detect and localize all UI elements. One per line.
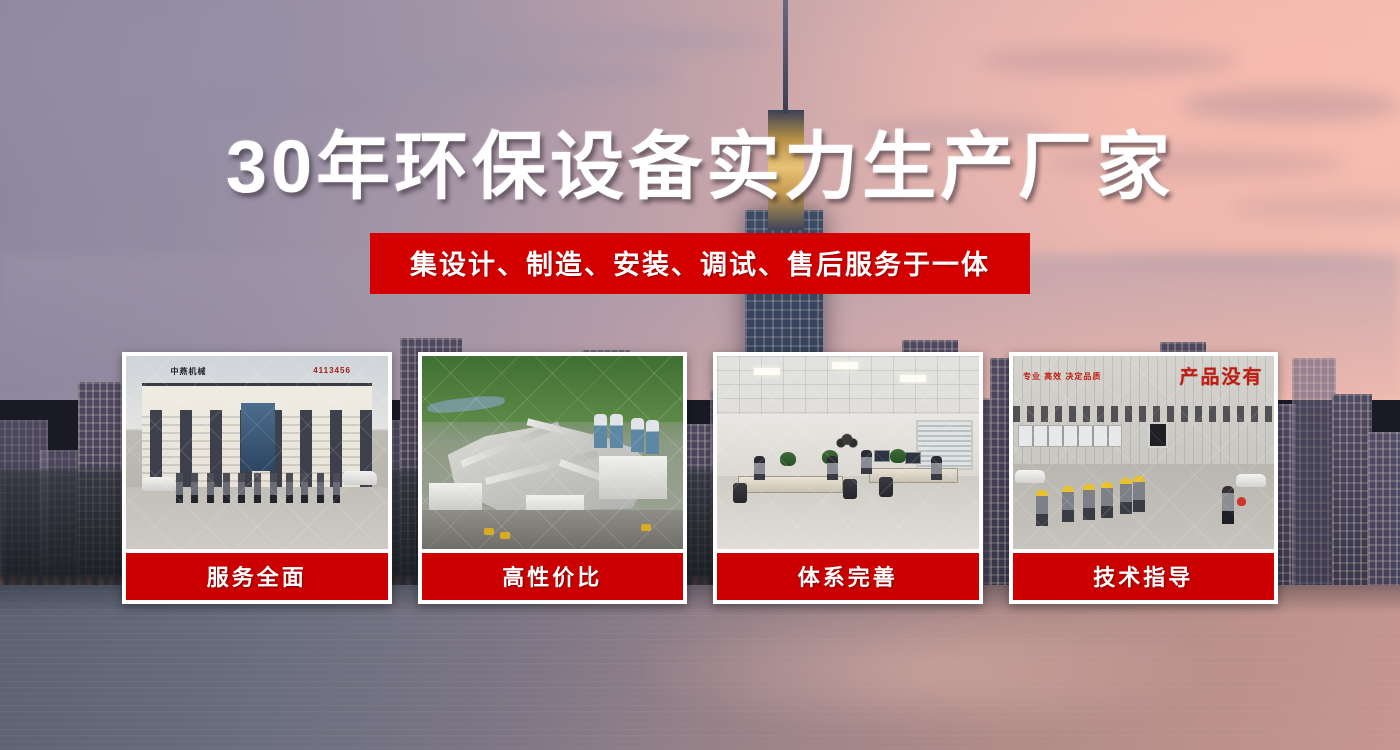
factory-banner-small: 专业 高效 决定品质: [1023, 371, 1101, 382]
card-photo-office-interior: [717, 356, 979, 549]
card-label: 体系完善: [717, 553, 979, 600]
card-label: 技术指导: [1013, 553, 1275, 600]
card-photo-company-building: 中燕机械 4113456: [126, 356, 388, 549]
subtitle-banner: 集设计、制造、安装、调试、售后服务于一体: [370, 233, 1030, 294]
feature-card[interactable]: 高性价比: [418, 352, 688, 604]
feature-card[interactable]: 中燕机械 4113456 服务全面: [122, 352, 392, 604]
building-phone-text: 4113456: [313, 366, 351, 375]
page-title: 30年环保设备实力生产厂家: [0, 130, 1400, 204]
feature-card-list: 中燕机械 4113456 服务全面: [122, 352, 1278, 604]
river-water: [0, 585, 1400, 750]
card-photo-factory-workers: 产品没有 专业 高效 决定品质: [1013, 356, 1275, 549]
building-sign-text: 中燕机械: [170, 366, 206, 377]
card-label: 服务全面: [126, 553, 388, 600]
card-photo-industrial-plant: [422, 356, 684, 549]
card-label: 高性价比: [422, 553, 684, 600]
banner-stage: 30年环保设备实力生产厂家 集设计、制造、安装、调试、售后服务于一体 中燕机械 …: [0, 0, 1400, 750]
feature-card[interactable]: 体系完善: [713, 352, 983, 604]
feature-card[interactable]: 产品没有 专业 高效 决定品质 技术指导: [1009, 352, 1279, 604]
subtitle-container: 集设计、制造、安装、调试、售后服务于一体: [0, 233, 1400, 294]
factory-banner-large: 产品没有: [1180, 362, 1264, 389]
skyscraper-spire: [783, 0, 788, 114]
